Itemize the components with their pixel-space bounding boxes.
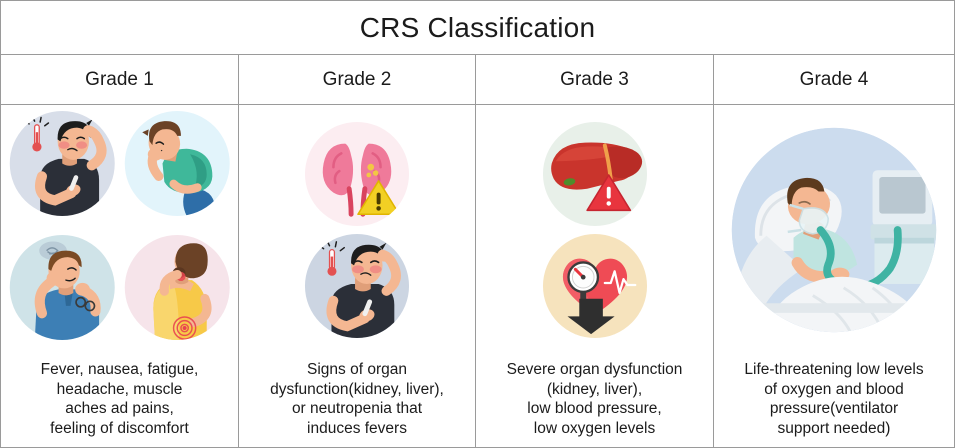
grade-2-column: Signs of organ dysfunction(kidney, liver… — [239, 105, 476, 447]
grade-1-column: Fever, nausea, fatigue, headache, muscle… — [1, 105, 239, 447]
liver-warning-illustration — [535, 120, 655, 228]
grade-1-illustrations — [1, 105, 238, 356]
fever-man-illustration — [297, 232, 417, 340]
page-title: CRS Classification — [360, 12, 595, 44]
column-header-grade-2: Grade 2 — [239, 55, 476, 104]
table-header-row: Grade 1 Grade 2 Grade 3 Grade 4 — [1, 55, 954, 105]
table-title-row: CRS Classification — [1, 1, 954, 55]
headache-man-illustration — [7, 231, 118, 344]
table-body-row: Fever, nausea, fatigue, headache, muscle… — [1, 105, 954, 447]
column-header-grade-3: Grade 3 — [476, 55, 714, 104]
grade-2-circle-stack — [239, 105, 475, 356]
kidney-warning-illustration — [297, 120, 417, 228]
grade-4-column: Life-threatening low levels of oxygen an… — [714, 105, 954, 447]
body-ache-woman-illustration — [122, 231, 233, 344]
grade-2-caption: Signs of organ dysfunction(kidney, liver… — [239, 356, 475, 447]
grade-2-illustrations — [239, 105, 475, 356]
grade-3-circle-stack — [476, 105, 713, 356]
grade-4-caption: Life-threatening low levels of oxygen an… — [714, 356, 954, 447]
nausea-man-illustration — [122, 107, 233, 220]
grade-1-caption: Fever, nausea, fatigue, headache, muscle… — [1, 356, 238, 447]
crs-classification-table: CRS Classification Grade 1 Grade 2 Grade… — [0, 0, 955, 448]
grade-1-circle-grid — [1, 105, 238, 356]
low-blood-pressure-heart-illustration — [535, 232, 655, 340]
ventilator-patient-illustration — [728, 124, 940, 336]
column-header-grade-4: Grade 4 — [714, 55, 954, 104]
grade-3-caption: Severe organ dysfunction (kidney, liver)… — [476, 356, 713, 447]
grade-3-illustrations — [476, 105, 713, 356]
grade-3-column: Severe organ dysfunction (kidney, liver)… — [476, 105, 714, 447]
fever-man-illustration — [7, 107, 118, 220]
grade-4-illustrations — [714, 105, 954, 356]
column-header-grade-1: Grade 1 — [1, 55, 239, 104]
